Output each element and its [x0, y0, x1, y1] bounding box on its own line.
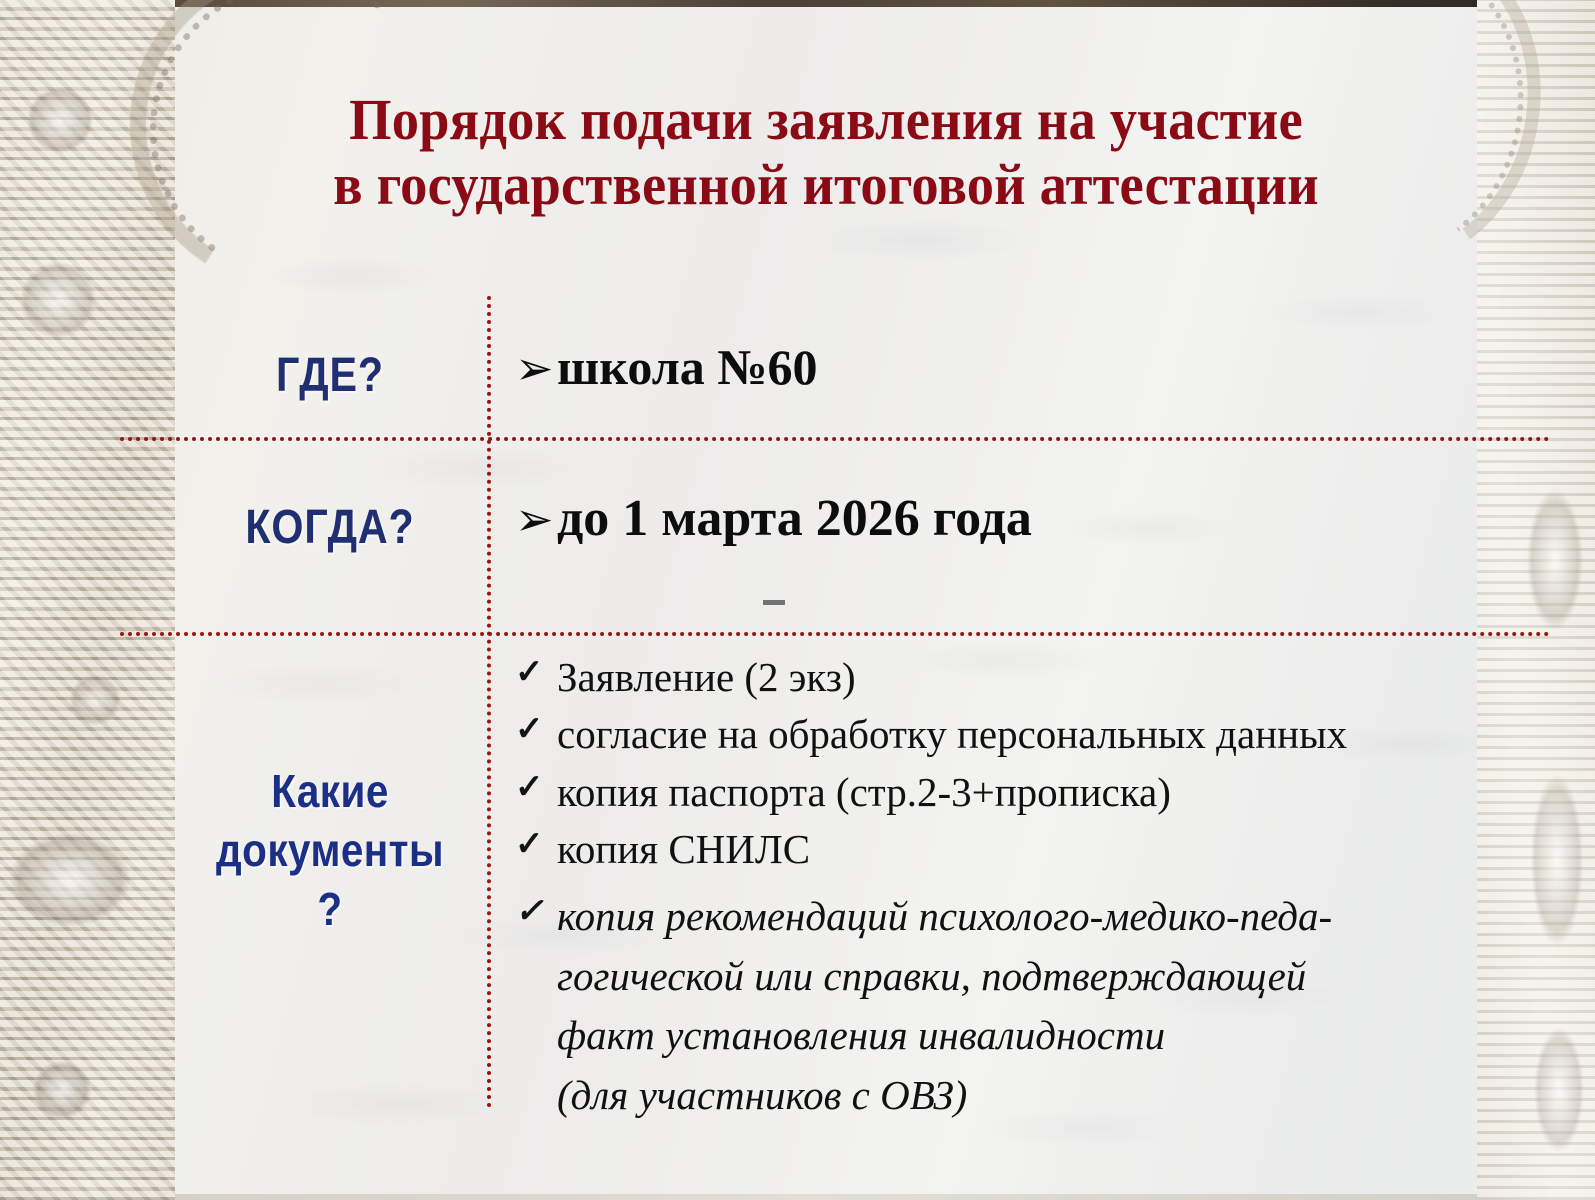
list-item-text: Заявление (2 экз): [557, 654, 856, 700]
school-value-text: школа №60: [557, 339, 818, 395]
check-icon: ✓: [515, 822, 544, 868]
check-icon: ✓: [515, 887, 544, 936]
slide-content: Порядок подачи заявления на участие в го…: [175, 0, 1477, 1200]
disability-note-line-3: факт установления инвалидности: [557, 1006, 1500, 1065]
disability-note-line-2: гогической или справки, подтверждающей: [557, 947, 1500, 1006]
list-item: ✓ копия паспорта (стр.2-3+прописка): [515, 765, 1500, 820]
list-item: ✓ Заявление (2 экз): [515, 650, 1500, 705]
table-divider-vertical: [487, 296, 491, 1108]
row-label-documents-line-2: документы: [194, 821, 467, 880]
list-item-text: копия СНИЛС: [557, 826, 810, 872]
table-divider-row-1: [120, 437, 1550, 441]
row-label-documents-line-3: ?: [194, 880, 467, 939]
row-value-when: ➢до 1 марта 2026 года: [515, 490, 1475, 547]
row-label-when: КОГДА?: [197, 500, 464, 555]
check-icon: ✓: [515, 765, 544, 811]
row-label-documents: Какие документы ?: [194, 762, 467, 939]
stray-dash-mark: [763, 600, 785, 605]
deadline-value-text: до 1 марта 2026 года: [557, 490, 1032, 547]
arrow-bullet-icon: ➢: [515, 495, 557, 546]
list-item-disability-note: ✓ копия рекомендаций психолого-медико-пе…: [515, 887, 1500, 1125]
check-icon: ✓: [515, 707, 544, 753]
list-item-text: копия паспорта (стр.2-3+прописка): [557, 769, 1171, 815]
documents-list: ✓ Заявление (2 экз) ✓ согласие на обрабо…: [515, 650, 1500, 1127]
disability-note-line-1: копия рекомендаций психолого-медико-педа…: [557, 887, 1500, 946]
row-label-documents-line-1: Какие: [194, 762, 467, 821]
disability-note-line-4: (для участников с ОВЗ): [557, 1066, 1500, 1125]
list-item: ✓ копия СНИЛС: [515, 822, 1500, 877]
arrow-bullet-icon: ➢: [515, 344, 557, 395]
check-icon: ✓: [515, 650, 544, 696]
row-value-where: ➢школа №60: [515, 340, 1475, 395]
list-item-text: согласие на обработку персональных данны…: [557, 711, 1347, 757]
presentation-slide: Порядок подачи заявления на участие в го…: [0, 0, 1595, 1200]
list-item: ✓ согласие на обработку персональных дан…: [515, 707, 1500, 762]
row-label-where: ГДЕ?: [197, 348, 464, 403]
table-divider-row-2: [120, 632, 1550, 636]
